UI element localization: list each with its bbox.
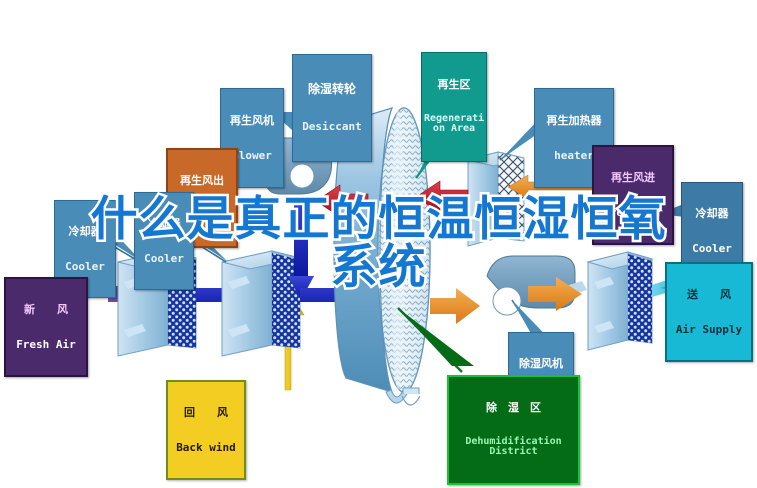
label-regeneration-area-cn: 再生区 — [424, 79, 484, 91]
headline-line-1: 什么是真正的恒温恒湿恒氧 — [0, 196, 757, 244]
label-desiccant-wheel-cn: 除湿转轮 — [295, 83, 369, 96]
label-back-wind-cn: 回 风 — [170, 407, 242, 419]
label-back-wind-en: Back wind — [170, 442, 242, 454]
label-dehum-blower-cn: 除湿风机 — [511, 358, 571, 370]
diagram-canvas: xt — [0, 0, 757, 488]
label-regen-fresh-air-cn: 再生风进 — [596, 172, 670, 184]
label-exhaust-cn: 再生风出 — [170, 175, 234, 187]
label-dehumidification-district: 除 湿 区 Dehumidification District — [447, 375, 580, 485]
headline-line-2: 系统 — [0, 244, 757, 292]
label-air-supply-en: Air Supply — [669, 324, 749, 336]
label-regeneration-area: 再生区 Regenerati on Area — [421, 52, 487, 162]
label-regen-heater-cn: 再生加热器 — [537, 115, 611, 127]
label-dehumidification-district-cn: 除 湿 区 — [451, 402, 576, 414]
label-fresh-air-en: Fresh Air — [8, 339, 84, 351]
label-desiccant-wheel: 除湿转轮 Desiccant — [292, 54, 372, 162]
label-fresh-air-cn: 新 风 — [8, 304, 84, 316]
label-desiccant-wheel-en: Desiccant — [295, 121, 369, 133]
label-back-wind: 回 风 Back wind — [166, 380, 246, 480]
label-dehumidification-district-en: Dehumidification District — [451, 437, 576, 458]
headline-overlay: 什么是真正的恒温恒湿恒氧 系统 — [0, 196, 757, 293]
label-regen-blower-cn: 再生风机 — [223, 115, 281, 127]
label-regeneration-area-en: Regenerati on Area — [424, 114, 484, 135]
